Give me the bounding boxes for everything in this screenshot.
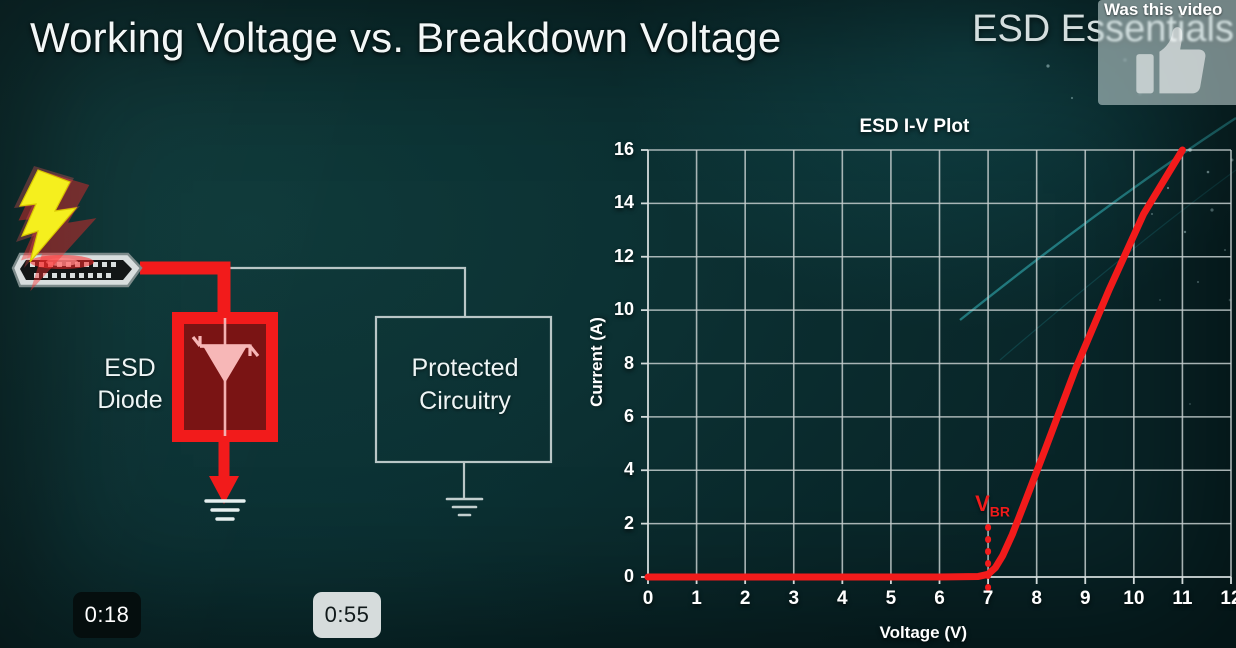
x-tick-label: 12	[1214, 588, 1236, 610]
x-tick-label: 8	[1020, 588, 1054, 610]
y-tick-label: 10	[600, 299, 634, 320]
chart-x-axis-label: Voltage (V)	[880, 623, 968, 643]
chart-plot-area	[575, 108, 1236, 648]
x-tick-label: 9	[1068, 588, 1102, 610]
ground-symbol-right	[447, 499, 482, 515]
y-tick-label: 4	[600, 459, 634, 480]
protected-circuitry-label-line2: Circuitry	[380, 385, 550, 418]
vbr-subscript: BR	[990, 504, 1010, 520]
y-tick-label: 16	[600, 139, 634, 160]
ground-symbol-left	[206, 501, 244, 519]
x-tick-label: 6	[923, 588, 957, 610]
vbr-annotation-label: VBR	[975, 491, 1010, 519]
esd-protection-circuit-diagram	[0, 150, 600, 550]
esd-diode-label: ESD Diode	[84, 352, 176, 416]
x-tick-label: 3	[777, 588, 811, 610]
x-tick-label: 10	[1117, 588, 1151, 610]
x-tick-label: 0	[631, 588, 665, 610]
signal-wire	[143, 268, 465, 317]
x-tick-label: 5	[874, 588, 908, 610]
protected-circuitry-label-line1: Protected	[380, 352, 550, 385]
y-tick-label: 0	[600, 566, 634, 587]
x-tick-label: 7	[971, 588, 1005, 610]
vbr-main: V	[975, 491, 990, 516]
chart-title: ESD I-V Plot	[860, 116, 970, 138]
x-tick-label: 2	[728, 588, 762, 610]
esd-current-wire-top	[140, 268, 224, 318]
x-tick-label: 4	[825, 588, 859, 610]
y-tick-label: 2	[600, 513, 634, 534]
y-tick-label: 14	[600, 192, 634, 213]
esd-diode-label-line1: ESD	[84, 352, 176, 384]
total-time-badge[interactable]: 0:55	[313, 592, 381, 638]
x-tick-label: 11	[1165, 588, 1199, 610]
video-frame: Working Voltage vs. Breakdown Voltage ES…	[0, 0, 1236, 648]
protected-circuitry-label: Protected Circuitry	[380, 352, 550, 418]
x-tick-label: 1	[680, 588, 714, 610]
survey-prompt: Was this video	[1104, 0, 1222, 20]
y-tick-label: 8	[600, 353, 634, 374]
thumbs-up-icon[interactable]	[1132, 24, 1210, 98]
esd-diode-symbol	[178, 318, 272, 436]
current-time-badge[interactable]: 0:18	[73, 592, 141, 638]
video-survey-overlay[interactable]: Was this video	[1098, 0, 1236, 105]
esd-iv-chart: ESD I-V Plot Current (A) Voltage (V) 024…	[575, 108, 1236, 648]
page-title: Working Voltage vs. Breakdown Voltage	[30, 14, 781, 62]
esd-diode-label-line2: Diode	[84, 384, 176, 416]
y-tick-label: 12	[600, 246, 634, 267]
y-tick-label: 6	[600, 406, 634, 427]
